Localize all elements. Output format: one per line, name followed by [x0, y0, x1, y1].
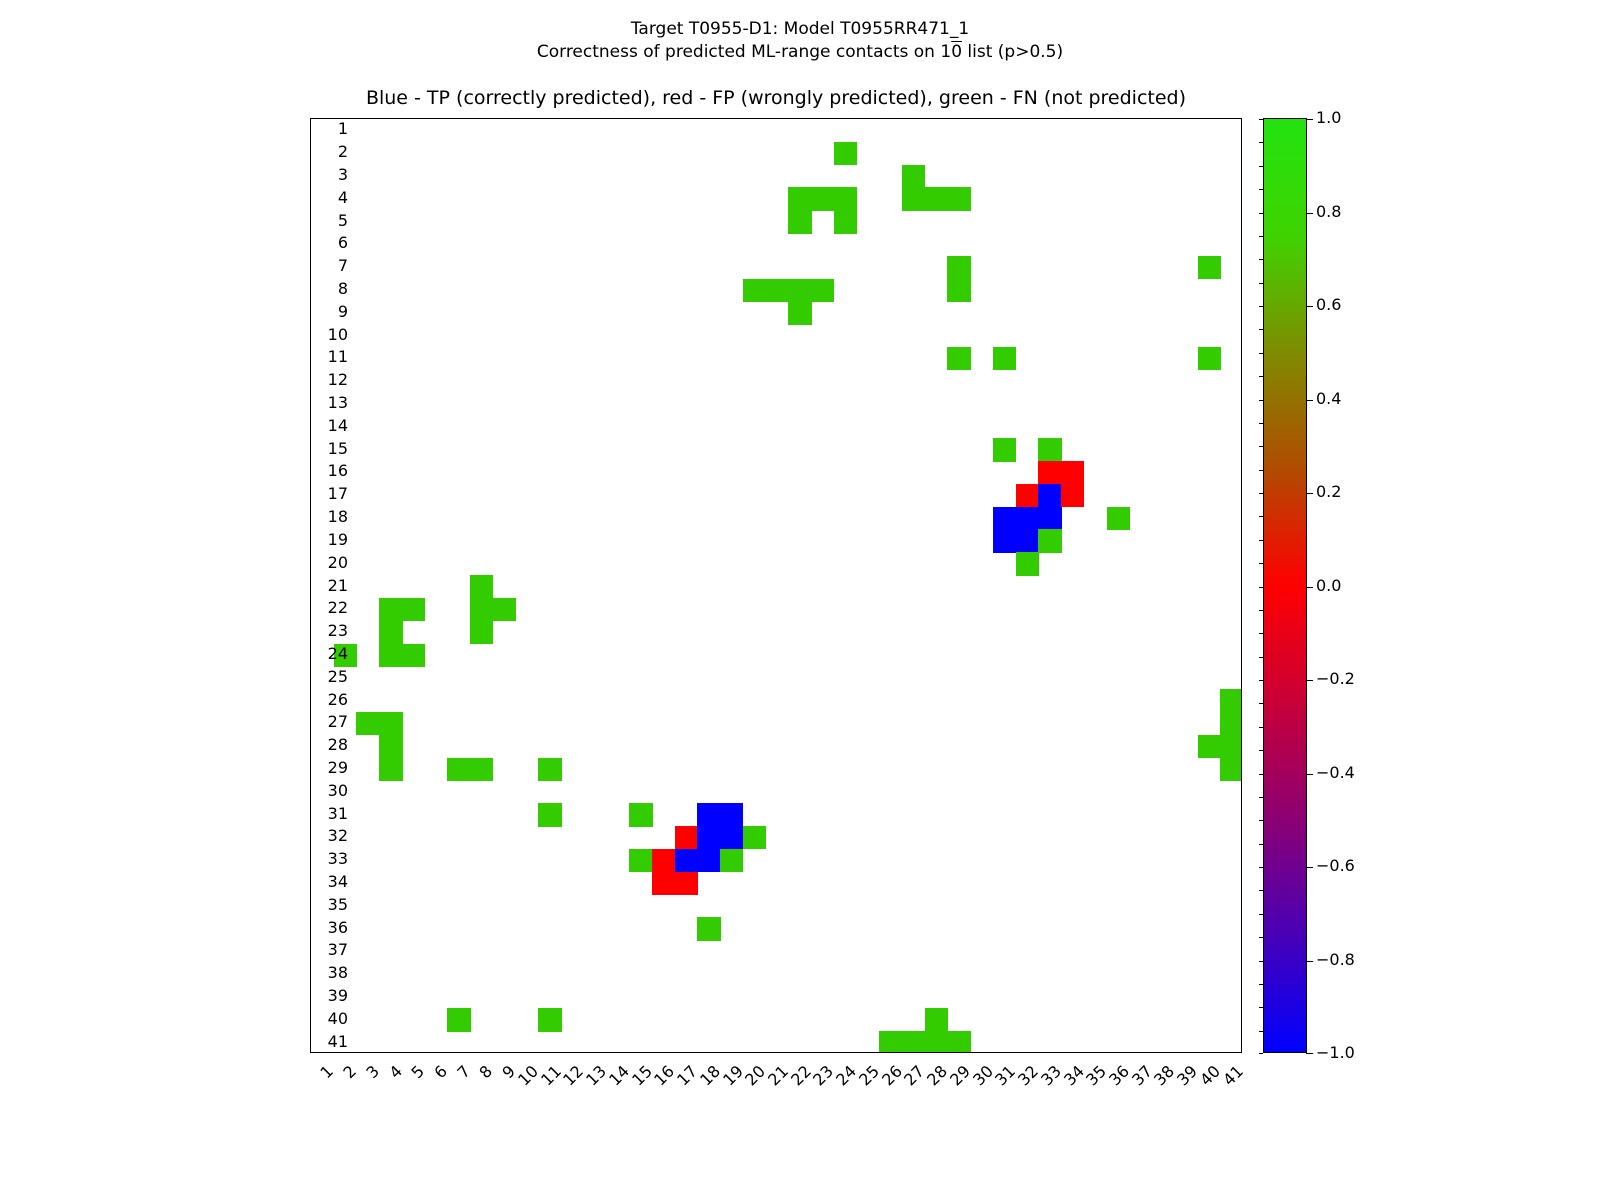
colorbar-tick-label: −0.8	[1316, 952, 1355, 968]
x-axis-tick-label: 28	[908, 1063, 950, 1105]
colorbar-tick	[1306, 680, 1313, 681]
contact-cell-fn	[993, 347, 1016, 370]
colorbar-tick-label: 0.0	[1316, 578, 1341, 594]
contact-cell-fn	[947, 187, 970, 210]
x-axis-tick	[322, 1052, 323, 1053]
colorbar-minor-tick	[1259, 774, 1263, 775]
x-axis-tick	[1118, 1052, 1119, 1053]
contact-cell-layer	[311, 119, 1241, 1052]
colorbar-minor-tick	[1259, 563, 1263, 564]
x-axis-tick-label: 22	[772, 1063, 814, 1105]
x-axis-tick	[868, 1052, 869, 1053]
x-axis-tick-label: 32	[999, 1063, 1041, 1105]
y-axis-tick	[310, 746, 311, 747]
y-axis-tick	[310, 769, 311, 770]
contact-cell-fn	[834, 187, 857, 210]
x-axis-tick	[345, 1052, 346, 1053]
y-axis-tick	[310, 541, 311, 542]
x-axis-tick	[663, 1052, 664, 1053]
contact-cell-tp	[1016, 507, 1039, 530]
colorbar-minor-tick	[1259, 750, 1263, 751]
contact-cell-fn	[402, 644, 425, 667]
x-axis-tick	[686, 1052, 687, 1053]
y-axis-tick	[310, 518, 311, 519]
contact-cell-fn	[788, 210, 811, 233]
colorbar-minor-tick	[1259, 400, 1263, 401]
contact-cell-fn	[379, 758, 402, 781]
contact-cell-fp	[1016, 484, 1039, 507]
x-axis-tick-label: 10	[499, 1063, 541, 1105]
contact-cell-fn	[356, 712, 379, 735]
contact-cell-fn	[379, 735, 402, 758]
contact-cell-fn	[834, 210, 857, 233]
colorbar-minor-tick	[1259, 446, 1263, 447]
x-axis-tick	[641, 1052, 642, 1053]
colorbar-minor-tick	[1259, 984, 1263, 985]
y-axis-tick	[310, 176, 311, 177]
contact-cell-fp	[1061, 461, 1084, 484]
colorbar-minor-tick	[1259, 213, 1263, 214]
colorbar-minor-tick	[1259, 890, 1263, 891]
x-axis-tick-label: 29	[931, 1063, 973, 1105]
colorbar-tick	[1306, 1053, 1313, 1054]
x-axis-tick-label: 18	[681, 1063, 723, 1105]
y-axis-tick	[310, 267, 311, 268]
y-axis-tick	[310, 427, 311, 428]
contact-cell-fn	[925, 1008, 948, 1031]
contact-cell-fn	[811, 187, 834, 210]
contact-cell-fn	[538, 803, 561, 826]
x-axis-tick	[1027, 1052, 1028, 1053]
contact-cell-tp	[697, 826, 720, 849]
colorbar-tick-label: −0.2	[1316, 671, 1355, 687]
colorbar-minor-tick	[1259, 142, 1263, 143]
x-axis-tick	[1209, 1052, 1210, 1053]
y-axis-tick	[310, 130, 311, 131]
colorbar-minor-tick	[1259, 587, 1263, 588]
y-axis-tick	[310, 837, 311, 838]
x-axis-tick	[481, 1052, 482, 1053]
contact-cell-fn	[538, 758, 561, 781]
colorbar-minor-tick	[1259, 867, 1263, 868]
x-axis-tick	[1050, 1052, 1051, 1053]
contact-cell-fn	[743, 826, 766, 849]
y-axis-tick	[310, 1020, 311, 1021]
x-axis-tick-label: 37	[1113, 1063, 1155, 1105]
contact-cell-fn	[493, 598, 516, 621]
contact-cell-fn	[788, 301, 811, 324]
x-axis-tick-label: 30	[953, 1063, 995, 1105]
contact-cell-fn	[379, 712, 402, 735]
contact-cell-tp	[697, 803, 720, 826]
contact-cell-fn	[1107, 507, 1130, 530]
x-axis-tick-label: 8	[453, 1063, 495, 1105]
contact-cell-fn	[379, 621, 402, 644]
colorbar-tick-label: 0.2	[1316, 484, 1341, 500]
contact-cell-fn	[470, 598, 493, 621]
x-axis-tick-label: 25	[840, 1063, 882, 1105]
x-axis-tick-label: 33	[1022, 1063, 1064, 1105]
contact-cell-fn	[1220, 735, 1242, 758]
x-axis-tick	[1004, 1052, 1005, 1053]
y-axis-tick	[310, 1043, 311, 1044]
figure-suptitle-line2: Correctness of predicted ML-range contac…	[0, 41, 1600, 64]
x-axis-tick-label: 2	[317, 1063, 359, 1105]
colorbar-minor-tick	[1259, 540, 1263, 541]
x-axis-tick-label: 39	[1158, 1063, 1200, 1105]
colorbar-minor-tick	[1259, 727, 1263, 728]
colorbar-tick	[1306, 961, 1313, 962]
contact-cell-fn	[947, 1031, 970, 1053]
x-axis-tick-label: 4	[362, 1063, 404, 1105]
colorbar-tick	[1306, 867, 1313, 868]
colorbar-minor-tick	[1259, 1031, 1263, 1032]
contact-cell-fn	[1016, 552, 1039, 575]
x-axis-tick	[845, 1052, 846, 1053]
colorbar-tick	[1306, 306, 1313, 307]
y-axis-tick	[310, 153, 311, 154]
x-axis-tick	[732, 1052, 733, 1053]
y-axis-tick	[310, 883, 311, 884]
contact-cell-fp	[1038, 461, 1061, 484]
y-axis-tick	[310, 358, 311, 359]
colorbar-tick	[1306, 587, 1313, 588]
colorbar-tick-label: −1.0	[1316, 1045, 1355, 1061]
x-axis-tick-label: 6	[408, 1063, 450, 1105]
colorbar-minor-tick	[1259, 680, 1263, 681]
x-axis-tick	[368, 1052, 369, 1053]
x-axis-tick-label: 27	[885, 1063, 927, 1105]
contact-cell-fn	[1220, 712, 1242, 735]
x-axis-tick-label: 16	[635, 1063, 677, 1105]
contact-cell-fn	[766, 279, 789, 302]
contact-cell-fn	[993, 438, 1016, 461]
contact-cell-fn	[1220, 689, 1242, 712]
y-axis-tick	[310, 792, 311, 793]
contact-cell-fn	[788, 279, 811, 302]
x-axis-tick	[709, 1052, 710, 1053]
y-axis-tick	[310, 997, 311, 998]
colorbar-minor-tick	[1259, 844, 1263, 845]
contact-cell-fn	[629, 849, 652, 872]
x-axis-tick-label: 34	[1044, 1063, 1086, 1105]
colorbar-minor-tick	[1259, 914, 1263, 915]
contact-cell-fp	[652, 872, 675, 895]
contact-cell-fn	[447, 758, 470, 781]
y-axis-tick	[310, 404, 311, 405]
x-axis-tick	[1073, 1052, 1074, 1053]
colorbar-minor-tick	[1259, 306, 1263, 307]
colorbar-minor-tick	[1259, 610, 1263, 611]
x-axis-tick	[1095, 1052, 1096, 1053]
contact-cell-fn	[1198, 256, 1221, 279]
y-axis-tick	[310, 609, 311, 610]
contact-cell-fn	[697, 917, 720, 940]
colorbar-tick-label: −0.4	[1316, 765, 1355, 781]
contact-cell-fn	[720, 849, 743, 872]
contact-cell-tp	[720, 826, 743, 849]
y-axis-tick	[310, 723, 311, 724]
contact-cell-fn	[1198, 347, 1221, 370]
colorbar-minor-tick	[1259, 470, 1263, 471]
colorbar-minor-tick	[1259, 937, 1263, 938]
x-axis-tick-label: 17	[658, 1063, 700, 1105]
x-axis-tick-label: 24	[817, 1063, 859, 1105]
contact-cell-fn	[629, 803, 652, 826]
x-axis-tick	[1186, 1052, 1187, 1053]
x-axis-tick-label: 11	[522, 1063, 564, 1105]
x-axis-tick-label: 36	[1090, 1063, 1132, 1105]
y-axis-tick	[310, 815, 311, 816]
x-axis-tick-label: 9	[476, 1063, 518, 1105]
x-axis-tick	[595, 1052, 596, 1053]
contact-cell-fn	[334, 644, 357, 667]
y-axis-tick	[310, 450, 311, 451]
contact-cell-tp	[1038, 507, 1061, 530]
colorbar-tick-label: 0.6	[1316, 297, 1341, 313]
colorbar-minor-tick	[1259, 329, 1263, 330]
x-axis-tick	[391, 1052, 392, 1053]
colorbar-minor-tick	[1259, 166, 1263, 167]
suptitle-line2-prefix: Correctness of predicted ML-range contac…	[537, 42, 951, 62]
colorbar-minor-tick	[1259, 283, 1263, 284]
x-axis-tick-label: 12	[544, 1063, 586, 1105]
y-axis-tick	[310, 906, 311, 907]
contact-cell-fn	[1038, 529, 1061, 552]
x-axis-tick-label: 20	[726, 1063, 768, 1105]
colorbar-tick-label: −0.6	[1316, 858, 1355, 874]
x-axis-tick-label: 3	[340, 1063, 382, 1105]
contact-cell-fn	[947, 347, 970, 370]
x-axis-tick	[936, 1052, 937, 1053]
colorbar-minor-tick	[1259, 236, 1263, 237]
y-axis-tick	[310, 632, 311, 633]
contact-cell-fn	[811, 279, 834, 302]
y-axis-tick	[310, 472, 311, 473]
x-axis-tick	[891, 1052, 892, 1053]
contact-cell-fn	[902, 165, 925, 188]
contact-cell-fp	[652, 849, 675, 872]
contact-cell-fn	[1038, 438, 1061, 461]
contact-cell-fn	[947, 279, 970, 302]
colorbar-minor-tick	[1259, 376, 1263, 377]
contact-cell-fn	[379, 644, 402, 667]
x-axis-tick-label: 40	[1181, 1063, 1223, 1105]
x-axis-tick	[959, 1052, 960, 1053]
x-axis-tick	[1141, 1052, 1142, 1053]
y-axis-tick	[310, 701, 311, 702]
contact-cell-fn	[947, 256, 970, 279]
colorbar-minor-tick	[1259, 259, 1263, 260]
y-axis-tick	[310, 951, 311, 952]
colorbar-minor-tick	[1259, 189, 1263, 190]
colorbar-tick-label: 1.0	[1316, 110, 1341, 126]
y-axis-tick	[310, 655, 311, 656]
contact-cell-fn	[1198, 735, 1221, 758]
figure-suptitle-line1: Target T0955-D1: Model T0955RR471_1	[0, 18, 1600, 41]
y-axis-tick	[310, 222, 311, 223]
colorbar-tick-label: 0.4	[1316, 391, 1341, 407]
colorbar-minor-tick	[1259, 119, 1263, 120]
x-axis-tick-label: 19	[703, 1063, 745, 1105]
y-axis-tick	[310, 244, 311, 245]
contact-cell-fn	[379, 598, 402, 621]
contact-cell-fn	[470, 758, 493, 781]
x-axis-tick	[572, 1052, 573, 1053]
x-axis-tick-label: 35	[1067, 1063, 1109, 1105]
x-axis-tick	[982, 1052, 983, 1053]
x-axis-tick-label: 14	[590, 1063, 632, 1105]
contact-cell-fn	[538, 1008, 561, 1031]
x-axis-tick	[913, 1052, 914, 1053]
x-axis-tick-label: 13	[567, 1063, 609, 1105]
colorbar-minor-tick	[1259, 633, 1263, 634]
y-axis-tick	[310, 860, 311, 861]
y-axis-tick	[310, 313, 311, 314]
figure-title-block: Target T0955-D1: Model T0955RR471_1 Corr…	[0, 18, 1600, 64]
contact-cell-tp	[697, 849, 720, 872]
x-axis-tick	[1163, 1052, 1164, 1053]
contact-cell-fn	[879, 1031, 902, 1053]
contact-cell-tp	[993, 507, 1016, 530]
y-axis-tick	[310, 336, 311, 337]
y-axis-tick	[310, 381, 311, 382]
contact-cell-fp	[675, 872, 698, 895]
suptitle-line2-overlined-digit: 0	[951, 42, 962, 62]
contact-cell-fp	[1061, 484, 1084, 507]
contact-cell-fn	[1220, 758, 1242, 781]
x-axis-tick-label: 26	[863, 1063, 905, 1105]
x-axis-tick	[459, 1052, 460, 1053]
contact-cell-tp	[993, 529, 1016, 552]
y-axis-tick	[310, 974, 311, 975]
colorbar-minor-tick	[1259, 657, 1263, 658]
x-axis-tick-label: 15	[612, 1063, 654, 1105]
x-axis-tick-label: 41	[1204, 1063, 1246, 1105]
colorbar-minor-tick	[1259, 1053, 1263, 1054]
x-axis-tick	[754, 1052, 755, 1053]
colorbar-minor-tick	[1259, 423, 1263, 424]
y-axis-tick	[310, 678, 311, 679]
contact-cell-fn	[834, 142, 857, 165]
x-axis-tick	[550, 1052, 551, 1053]
x-axis-tick-label: 7	[431, 1063, 473, 1105]
x-axis-tick	[822, 1052, 823, 1053]
x-axis-tick	[618, 1052, 619, 1053]
colorbar-minor-tick	[1259, 703, 1263, 704]
x-axis-tick-label: 38	[1135, 1063, 1177, 1105]
colorbar-tick	[1306, 213, 1313, 214]
y-axis-tick	[310, 929, 311, 930]
colorbar-minor-tick	[1259, 797, 1263, 798]
colorbar-tick	[1306, 400, 1313, 401]
contact-cell-tp	[1016, 529, 1039, 552]
x-axis-tick-label: 5	[385, 1063, 427, 1105]
y-axis-tick	[310, 199, 311, 200]
contact-cell-fn	[902, 1031, 925, 1053]
contact-cell-tp	[720, 803, 743, 826]
x-axis-tick	[413, 1052, 414, 1053]
x-axis-tick	[800, 1052, 801, 1053]
contact-cell-fn	[788, 187, 811, 210]
x-axis-tick	[527, 1052, 528, 1053]
colorbar-minor-tick	[1259, 516, 1263, 517]
colorbar-tick	[1306, 774, 1313, 775]
contact-cell-tp	[675, 849, 698, 872]
contact-cell-fn	[902, 187, 925, 210]
axes-title: Blue - TP (correctly predicted), red - F…	[310, 86, 1242, 110]
x-axis-tick	[777, 1052, 778, 1053]
y-axis-tick	[310, 564, 311, 565]
colorbar-tick	[1306, 493, 1313, 494]
contact-cell-tp	[1038, 484, 1061, 507]
y-axis-tick	[310, 495, 311, 496]
contact-cell-fn	[925, 1031, 948, 1053]
contact-cell-fp	[675, 826, 698, 849]
x-axis-tick-label: 23	[794, 1063, 836, 1105]
colorbar	[1263, 118, 1307, 1053]
x-axis-tick-label: 31	[976, 1063, 1018, 1105]
contact-cell-fn	[925, 187, 948, 210]
x-axis-tick	[504, 1052, 505, 1053]
contact-cell-fn	[743, 279, 766, 302]
suptitle-line2-suffix: list (p>0.5)	[962, 42, 1063, 62]
colorbar-minor-tick	[1259, 353, 1263, 354]
colorbar-tick-label: 0.8	[1316, 204, 1341, 220]
colorbar-minor-tick	[1259, 961, 1263, 962]
x-axis-tick-label: 1	[294, 1063, 336, 1105]
colorbar-minor-tick	[1259, 820, 1263, 821]
colorbar-tick	[1306, 119, 1313, 120]
colorbar-minor-tick	[1259, 1007, 1263, 1008]
contact-cell-fn	[402, 598, 425, 621]
contact-map-plot	[310, 118, 1242, 1053]
contact-cell-fn	[470, 621, 493, 644]
x-axis-tick	[436, 1052, 437, 1053]
x-axis-tick	[1232, 1052, 1233, 1053]
y-axis-tick	[310, 290, 311, 291]
colorbar-minor-tick	[1259, 493, 1263, 494]
y-axis-tick	[310, 587, 311, 588]
x-axis-tick-label: 21	[749, 1063, 791, 1105]
contact-cell-fn	[447, 1008, 470, 1031]
contact-cell-fn	[470, 575, 493, 598]
